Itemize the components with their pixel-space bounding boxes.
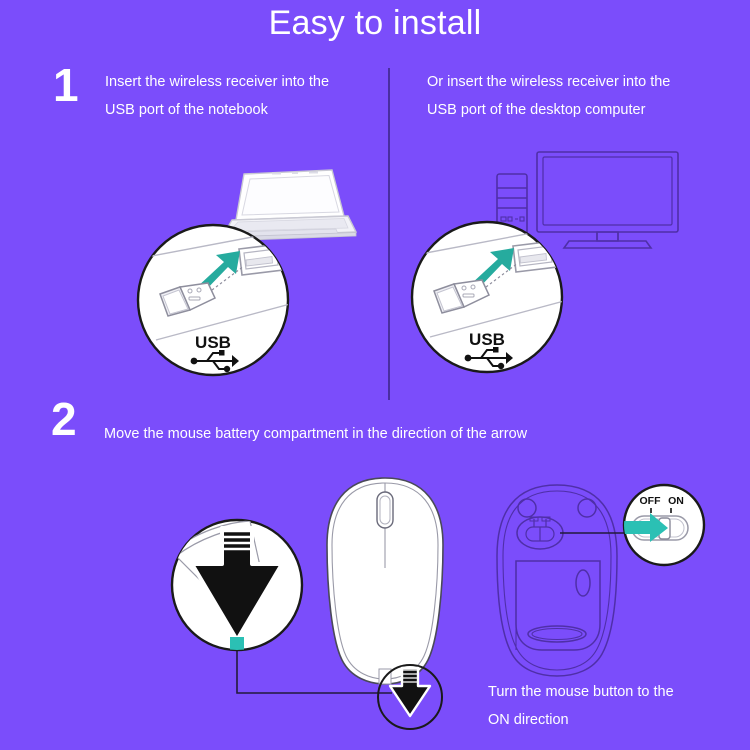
teal-down-arrow-icon [222, 637, 252, 676]
step-2-caption-line1: Turn the mouse button to the [488, 678, 738, 706]
insert-arrow-icon [470, 248, 514, 291]
switch-off-label: OFF [640, 495, 662, 507]
step-1-right-line1: Or insert the wireless receiver into the [427, 68, 737, 96]
poster-root: Easy to install 1 Insert the wireless re… [0, 0, 750, 750]
usb-callout-right: USB [394, 222, 579, 372]
laptop-icon [222, 170, 356, 241]
step-2-caption-line2: ON direction [488, 706, 738, 734]
power-switch-callout: OFF ON [622, 485, 704, 565]
mouse-top-view-icon [327, 478, 443, 684]
usb-symbol-icon [191, 350, 239, 372]
step-1-left-line1: Insert the wireless receiver into the [105, 68, 385, 96]
switch-on-label: ON [668, 495, 684, 507]
battery-door-callout [172, 520, 302, 676]
step-1-number: 1 [53, 62, 79, 108]
battery-door-arrow-small-circle [378, 665, 442, 729]
desktop-computer-icon [497, 152, 678, 248]
usb-callout-left-label: USB [195, 333, 231, 352]
usb-receiver-icon [160, 283, 215, 316]
mouse-underside-icon [497, 485, 617, 676]
insert-arrow-icon [196, 251, 240, 294]
step-2-number: 2 [51, 396, 77, 442]
battery-door-arrow-icon [390, 668, 430, 716]
battery-door-arrow-icon [192, 528, 282, 640]
usb-port-icon [513, 241, 557, 272]
step-1-left-line2: USB port of the notebook [105, 96, 385, 124]
usb-callout-left: USB [120, 225, 305, 375]
usb-symbol-icon [465, 347, 513, 369]
page-title: Easy to install [0, 4, 750, 43]
usb-receiver-icon [434, 280, 489, 313]
column-divider [388, 68, 390, 400]
step-2-instruction: Move the mouse battery compartment in th… [104, 420, 664, 448]
usb-port-icon [239, 244, 283, 275]
usb-callout-right-label: USB [469, 330, 505, 349]
step-1-right-line2: USB port of the desktop computer [427, 96, 737, 124]
callout-connector-line [237, 651, 392, 693]
teal-right-arrow-icon [622, 513, 668, 542]
